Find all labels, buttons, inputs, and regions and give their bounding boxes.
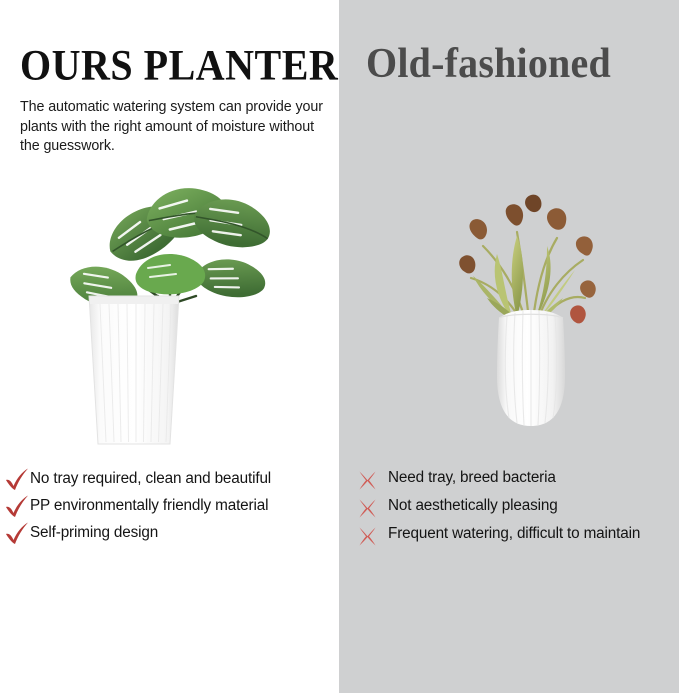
check-icon — [4, 494, 30, 520]
panel-ours: OURS PLANTER The automatic watering syst… — [0, 0, 339, 693]
list-item-label: PP environmentally friendly material — [30, 496, 268, 515]
vase-body — [497, 310, 565, 426]
ours-planter-image — [40, 178, 300, 446]
list-item-label: Self-priming design — [30, 523, 158, 542]
page-title-old-fashioned: Old-fashioned — [366, 42, 611, 84]
list-item: Need tray, breed bacteria — [354, 468, 654, 491]
page-title-ours: OURS PLANTER — [20, 44, 338, 87]
list-item: No tray required, clean and beautiful — [4, 468, 294, 493]
list-item: Not aesthetically pleasing — [354, 496, 654, 519]
list-item-label: Frequent watering, difficult to maintain — [388, 524, 640, 543]
list-item-label: No tray required, clean and beautiful — [30, 469, 271, 488]
check-icon — [4, 521, 30, 547]
comparison-infographic: OURS PLANTER The automatic watering syst… — [0, 0, 679, 693]
list-item-label: Not aesthetically pleasing — [388, 496, 558, 515]
old-fashioned-vase-image — [425, 180, 640, 432]
list-item: Frequent watering, difficult to maintain — [354, 524, 654, 547]
x-icon — [357, 526, 378, 547]
list-item: PP environmentally friendly material — [4, 495, 294, 520]
old-fashioned-feature-list: Need tray, breed bacteria Not aesthetica… — [354, 468, 654, 552]
ours-feature-list: No tray required, clean and beautiful PP… — [4, 468, 294, 549]
planter-body — [89, 296, 179, 444]
x-icon — [357, 470, 378, 491]
list-item: Self-priming design — [4, 522, 294, 547]
x-icon — [357, 498, 378, 519]
check-icon — [4, 467, 30, 493]
list-item-label: Need tray, breed bacteria — [388, 468, 556, 487]
intro-paragraph: The automatic watering system can provid… — [20, 98, 332, 157]
